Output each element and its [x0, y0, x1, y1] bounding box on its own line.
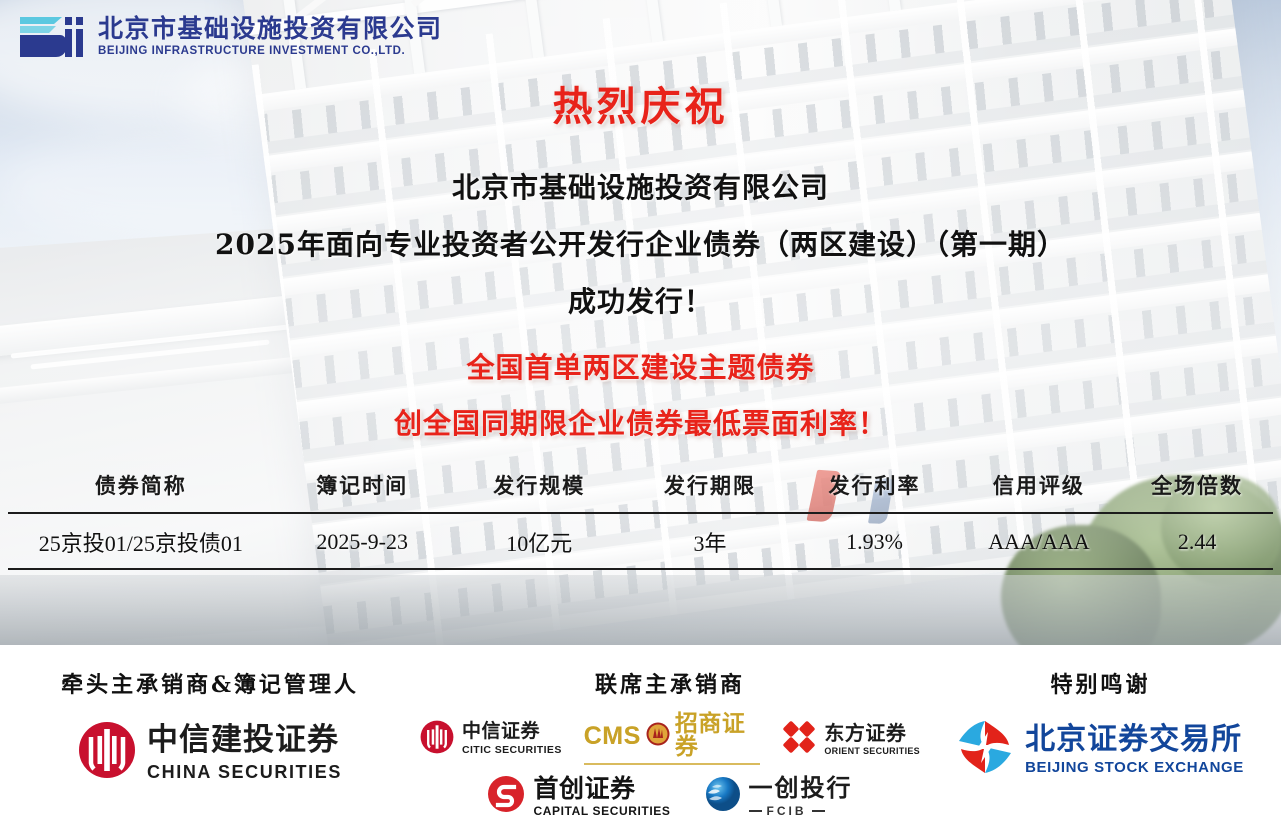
orient-name-cn: 东方证券: [824, 721, 906, 745]
cell-bond-name: 25京投01/25京投债01: [8, 513, 274, 569]
company-name-en: BEIJING INFRASTRUCTURE INVESTMENT CO.,LT…: [98, 46, 443, 58]
cell-issue-term: 3年: [628, 513, 792, 569]
headline-line-2: 2025年面向专业投资者公开发行企业债券（两区建设）（第一期）: [0, 223, 1281, 263]
footer-thanks-column: 特别鸣谢 北京证券交易所 BEIJING STOCK: [920, 645, 1281, 828]
bond-summary-table: 债券简称 簿记时间 发行规模 发行期限 发行利率 信用评级 全场倍数 25京投0…: [8, 466, 1273, 570]
citic-name-cn: 中信证券: [462, 720, 540, 742]
col-bond-name: 债券简称: [8, 466, 274, 513]
fcib-name-en: FCIB: [767, 805, 807, 817]
cms-underline: [584, 763, 761, 765]
highlight-line-2: 创全国同期限企业债券最低票面利率！: [0, 402, 1281, 442]
china-securities-name-cn: 中信建投证券: [147, 722, 339, 758]
cell-issue-size: 10亿元: [451, 513, 628, 569]
citic-construction-seal-icon: [78, 721, 136, 784]
fcib-globe-icon: [705, 776, 741, 817]
cms-coin-icon: [646, 722, 670, 750]
logo-citic-securities: 中信证券 CITIC SECURITIES: [420, 720, 562, 759]
fcib-name-cn: 一创投行: [749, 774, 853, 802]
china-securities-name-en: CHINA SECURITIES: [147, 763, 342, 781]
celebrate-title: 热烈庆祝: [0, 74, 1281, 132]
logo-fcib: 一创投行 FCIB: [705, 776, 853, 817]
headline-block: 热烈庆祝 北京市基础设施投资有限公司 2025年面向专业投资者公开发行企业债券（…: [0, 0, 1281, 442]
cell-booking-date: 2025-9-23: [274, 513, 451, 569]
lead-underwriter-caption: 牵头主承销商&簿记管理人: [0, 667, 420, 699]
col-issue-size: 发行规模: [451, 466, 628, 513]
company-name-cn: 北京市基础设施投资有限公司: [98, 14, 443, 43]
logo-china-securities: 中信建投证券 CHINA SECURITIES: [78, 721, 342, 784]
capital-s-circle-icon: [487, 775, 525, 818]
footer-lead-column: 牵头主承销商&簿记管理人 中信建投证券: [0, 645, 420, 828]
col-issue-rate: 发行利率: [792, 466, 956, 513]
col-booking-date: 簿记时间: [274, 466, 451, 513]
table-row: 25京投01/25京投债01 2025-9-23 10亿元 3年 1.93% A…: [8, 513, 1273, 569]
beijing-stock-exchange-icon: [957, 719, 1013, 780]
joint-underwriter-caption: 联席主承销商: [420, 667, 920, 699]
col-credit-rating: 信用评级: [957, 466, 1121, 513]
bse-name-en: BEIJING STOCK EXCHANGE: [1025, 760, 1244, 775]
orient-diamond-icon: [782, 720, 816, 759]
bse-name-cn: 北京证券交易所: [1025, 722, 1242, 757]
col-issue-term: 发行期限: [628, 466, 792, 513]
special-thanks-caption: 特别鸣谢: [920, 667, 1281, 699]
cell-subscription-multiple: 2.44: [1121, 513, 1273, 569]
cms-wordmark: CMS: [584, 724, 641, 749]
poster-canvas: 北京市基础设施投资有限公司 BEIJING INFRASTRUCTURE INV…: [0, 0, 1281, 828]
logo-cms-securities: CMS 招商证券: [584, 713, 761, 765]
cms-name-cn: 招商证券: [675, 713, 761, 759]
logo-beijing-stock-exchange: 北京证券交易所 BEIJING STOCK EXCHANGE: [957, 719, 1244, 780]
headline-line-1: 北京市基础设施投资有限公司: [0, 166, 1281, 206]
col-subscription-multiple: 全场倍数: [1121, 466, 1273, 513]
table-header-row: 债券简称 簿记时间 发行规模 发行期限 发行利率 信用评级 全场倍数: [8, 466, 1273, 513]
cell-issue-rate: 1.93%: [792, 513, 956, 569]
capital-name-en: CAPITAL SECURITIES: [533, 805, 670, 817]
footer-joint-column: 联席主承销商 中信证券: [420, 645, 920, 828]
logo-capital-securities: 首创证券 CAPITAL SECURITIES: [487, 775, 670, 818]
fcib-dash-right: [812, 810, 825, 812]
logo-orient-securities: 东方证券 ORIENT SECURITIES: [782, 720, 920, 759]
bii-logo-icon: [18, 14, 84, 60]
orient-name-en: ORIENT SECURITIES: [824, 747, 920, 756]
citic-name-en: CITIC SECURITIES: [462, 745, 562, 756]
citic-seal-icon: [420, 720, 454, 759]
cell-credit-rating: AAA/AAA: [957, 513, 1121, 569]
footer-bar: 牵头主承销商&簿记管理人 中信建投证券: [0, 645, 1281, 828]
highlight-line-1: 全国首单两区建设主题债券: [0, 346, 1281, 386]
fcib-dash-left: [749, 810, 762, 812]
headline-line-3: 成功发行！: [0, 280, 1281, 320]
capital-name-cn: 首创证券: [533, 774, 635, 803]
company-logo-bar: 北京市基础设施投资有限公司 BEIJING INFRASTRUCTURE INV…: [18, 14, 443, 60]
